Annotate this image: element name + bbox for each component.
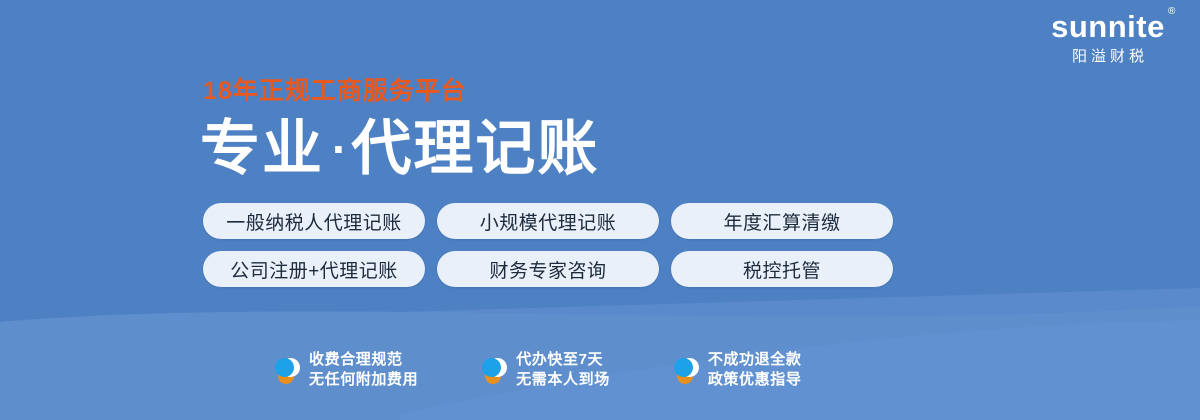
logo-wordmark-text: sunnite	[1051, 9, 1165, 44]
feature-text: 收费合理规范 无任何附加费用	[309, 350, 418, 390]
crescent-shape	[684, 358, 699, 377]
feature-line-1: 不成功退全款	[708, 351, 802, 368]
service-pill[interactable]: 财务专家咨询	[437, 251, 659, 287]
logo-chinese-name: 阳溢财税	[1038, 48, 1178, 66]
hero-title: 专业·代理记账	[200, 113, 599, 185]
hero-title-right: 代理记账	[351, 115, 599, 182]
feature-line-1: 代办快至7天	[516, 351, 603, 368]
feature-line-1: 收费合理规范	[309, 351, 403, 368]
service-pill[interactable]: 年度汇算清缴	[671, 203, 893, 239]
hero-title-separator: ·	[324, 123, 351, 175]
feature-text: 代办快至7天 无需本人到场	[516, 350, 610, 390]
hero-title-left: 专业	[200, 115, 324, 182]
service-pill[interactable]: 小规模代理记账	[437, 203, 659, 239]
circle-drop-icon	[481, 354, 507, 386]
service-pill[interactable]: 税控托管	[671, 251, 893, 287]
circle-drop-icon	[274, 354, 300, 386]
feature-item: 收费合理规范 无任何附加费用	[274, 350, 418, 390]
feature-line-2: 政策优惠指导	[708, 371, 802, 388]
logo-wordmark: sunnite ®	[1051, 10, 1165, 44]
hero-kicker: 18年正规工商服务平台	[203, 76, 467, 106]
brand-logo[interactable]: sunnite ® 阳溢财税	[1038, 10, 1178, 66]
service-pill-grid: 一般纳税人代理记账 小规模代理记账 年度汇算清缴 公司注册+代理记账 财务专家咨…	[203, 203, 893, 287]
circle-drop-icon	[673, 354, 699, 386]
service-pill[interactable]: 公司注册+代理记账	[203, 251, 425, 287]
feature-text: 不成功退全款 政策优惠指导	[708, 350, 802, 390]
feature-item: 代办快至7天 无需本人到场	[481, 350, 610, 390]
crescent-shape	[285, 358, 300, 377]
feature-item: 不成功退全款 政策优惠指导	[673, 350, 802, 390]
feature-list: 收费合理规范 无任何附加费用 代办快至7天 无需本人到场 不成功退全款	[274, 350, 801, 390]
feature-line-2: 无需本人到场	[516, 371, 610, 388]
crescent-shape	[492, 358, 507, 377]
feature-line-2: 无任何附加费用	[309, 371, 418, 388]
promo-banner: sunnite ® 阳溢财税 18年正规工商服务平台 专业·代理记账 一般纳税人…	[0, 0, 1200, 420]
registered-trademark-icon: ®	[1168, 7, 1176, 17]
service-pill[interactable]: 一般纳税人代理记账	[203, 203, 425, 239]
